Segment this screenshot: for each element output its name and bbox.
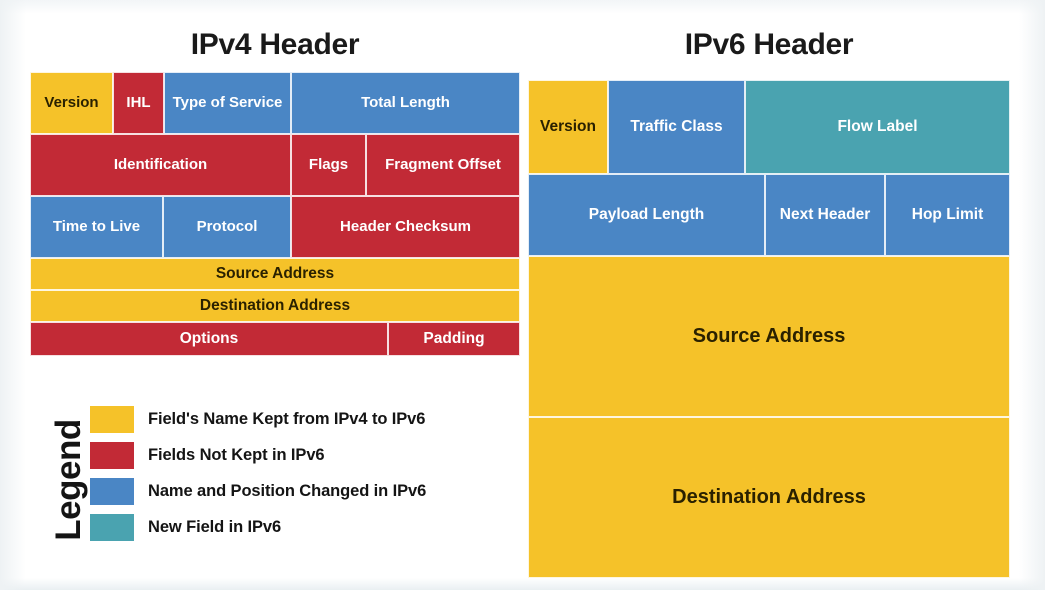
legend-title: Legend [49,405,89,555]
legend-swatch-kept-icon [90,406,134,433]
ipv6-field-payload-length: Payload Length [528,174,765,256]
legend-label-kept: Field's Name Kept from IPv4 to IPv6 [148,410,425,429]
ipv6-field-next-header: Next Header [765,174,885,256]
ipv4-field-destination-address: Destination Address [30,290,520,322]
legend-swatch-new-icon [90,514,134,541]
legend-label-new: New Field in IPv6 [148,518,281,537]
ipv6-field-hop-limit: Hop Limit [885,174,1010,256]
ipv4-field-fragment-offset: Fragment Offset [366,134,520,196]
ipv6-title: IPv6 Header [528,28,1010,62]
ipv6-field-source-address: Source Address [528,256,1010,417]
ipv4-field-ihl: IHL [113,72,164,134]
ipv4-field-identification: Identification [30,134,291,196]
ipv4-field-flags: Flags [291,134,366,196]
legend-item-changed: Name and Position Changed in IPv6 [90,474,426,508]
legend-item-not-kept: Fields Not Kept in IPv6 [90,438,324,472]
ipv4-field-time-to-live: Time to Live [30,196,163,258]
ipv4-field-type-of-service: Type of Service [164,72,291,134]
diagram-canvas: IPv4 Header Version IHL Type of Service … [0,0,1045,590]
ipv6-field-flow-label: Flow Label [745,80,1010,174]
ipv4-field-source-address: Source Address [30,258,520,290]
ipv4-field-header-checksum: Header Checksum [291,196,520,258]
legend: Legend Field's Name Kept from IPv4 to IP… [28,398,498,563]
ipv4-title: IPv4 Header [30,28,520,62]
ipv4-field-padding: Padding [388,322,520,356]
legend-item-new: New Field in IPv6 [90,510,281,544]
legend-label-not-kept: Fields Not Kept in IPv6 [148,446,324,465]
ipv6-field-traffic-class: Traffic Class [608,80,745,174]
ipv6-field-version: Version [528,80,608,174]
legend-swatch-not-kept-icon [90,442,134,469]
ipv6-field-destination-address: Destination Address [528,417,1010,578]
ipv4-field-options: Options [30,322,388,356]
ipv4-field-version: Version [30,72,113,134]
legend-label-changed: Name and Position Changed in IPv6 [148,482,426,501]
ipv4-field-total-length: Total Length [291,72,520,134]
legend-item-kept: Field's Name Kept from IPv4 to IPv6 [90,402,425,436]
legend-swatch-changed-icon [90,478,134,505]
ipv4-field-protocol: Protocol [163,196,291,258]
